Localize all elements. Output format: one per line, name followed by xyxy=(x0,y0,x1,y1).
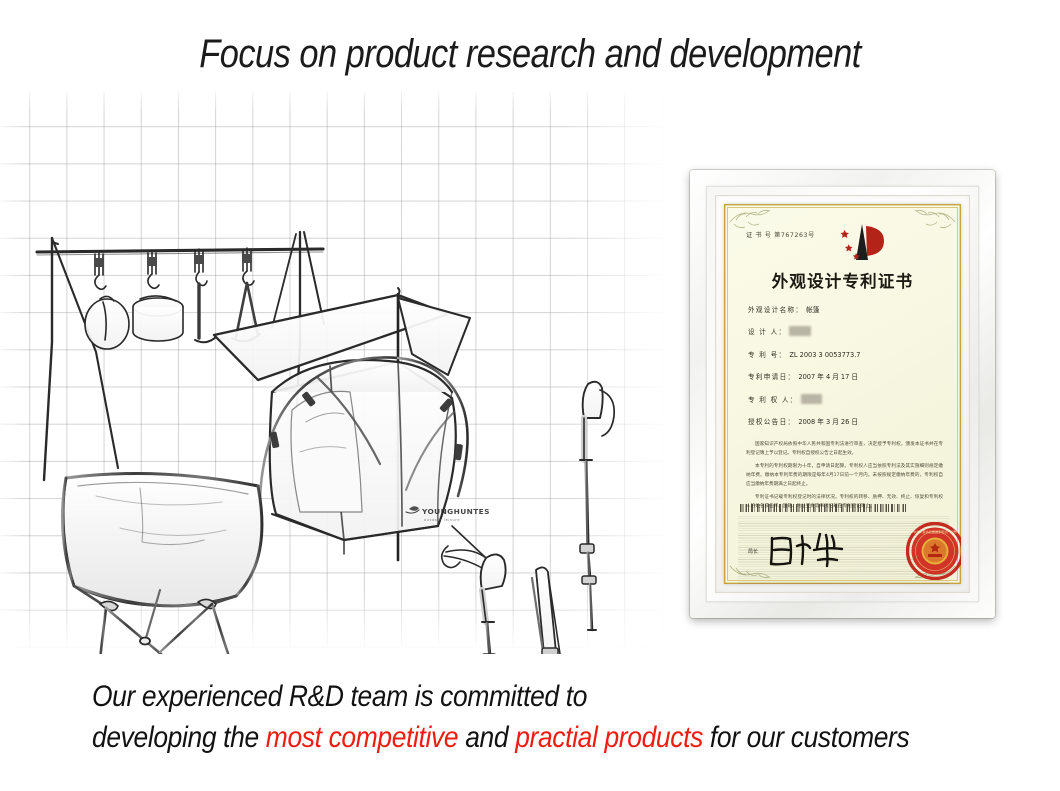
certificate-row: 专 利 号： ZL 2003 3 0053773.7 xyxy=(748,349,943,359)
trekking-pole-front xyxy=(442,546,506,654)
tagline-line-2: developing the most competitive and prac… xyxy=(92,717,919,758)
page-title: Focus on product research and developmen… xyxy=(74,32,986,77)
trekking-pole-rear xyxy=(580,382,614,630)
certificate-row: 外观设计名称： 帐篷 xyxy=(748,304,943,314)
seal-text: 中华人民共和国国家知识产权局 xyxy=(913,529,956,534)
commissioner-signature xyxy=(764,530,850,570)
patent-certificate-frame: 证 书 号 第767263号 外观设计专利证书 外观设计名称： 帐篷 设 计 人… xyxy=(690,170,995,618)
tagline-block: Our experienced R&D team is committed to… xyxy=(92,676,919,758)
certificate-paragraph: 国家知识产权局依照中华人民共和国专利法进行审查，决定授予专利权，颁发本证书并在专… xyxy=(746,440,943,458)
trekking-pole-folded xyxy=(532,567,562,654)
certificate-barcode xyxy=(740,504,906,512)
product-sketch-panel: YOUNGHUNTES outdoor leisure xyxy=(0,92,672,654)
certificate-row: 专利申请日： 2007 年 4 月 17 日 xyxy=(748,371,943,381)
signature-label: 局长 xyxy=(748,548,758,555)
tagline-highlight-2: practial products xyxy=(515,721,703,754)
tagline-segment: developing the xyxy=(92,721,266,754)
national-seal: 中华人民共和国国家知识产权局 xyxy=(906,522,961,580)
certificate-field-list: 外观设计名称： 帐篷 设 计 人： 周碧珍 专 利 号： ZL 2003 3 0… xyxy=(748,304,943,438)
certificate-row: 授权公告日： 2008 年 3 月 26 日 xyxy=(748,416,943,426)
tagline-line-1: Our experienced R&D team is committed to xyxy=(92,676,919,717)
certificate-paragraph: 本专利的专利权期限为十年，自申请日起算。专利权人应当依照专利法及其实施细则规定缴… xyxy=(746,462,943,489)
tagline-highlight-1: most competitive xyxy=(266,721,458,754)
camping-gear-sketch: YOUNGHUNTES outdoor leisure xyxy=(0,92,672,654)
tagline-segment: and xyxy=(458,721,515,754)
certificate-paper: 证 书 号 第767263号 外观设计专利证书 外观设计名称： 帐篷 设 计 人… xyxy=(724,204,961,584)
sipo-logo-icon xyxy=(832,220,892,266)
tagline-segment: for our customers xyxy=(703,721,909,754)
certificate-row: 设 计 人： 周碧珍 xyxy=(748,326,943,336)
corner-ornament-top-right xyxy=(911,206,957,236)
certificate-number: 证 书 号 第767263号 xyxy=(746,230,815,239)
folding-camp-chair xyxy=(62,474,261,655)
certificate-row: 专 利 权 人： 周碧珍 xyxy=(748,394,943,404)
brand-logo-tagline: outdoor leisure xyxy=(424,518,460,522)
brand-logo-text: YOUNGHUNTES xyxy=(421,507,490,516)
certificate-title: 外观设计专利证书 xyxy=(724,268,961,292)
